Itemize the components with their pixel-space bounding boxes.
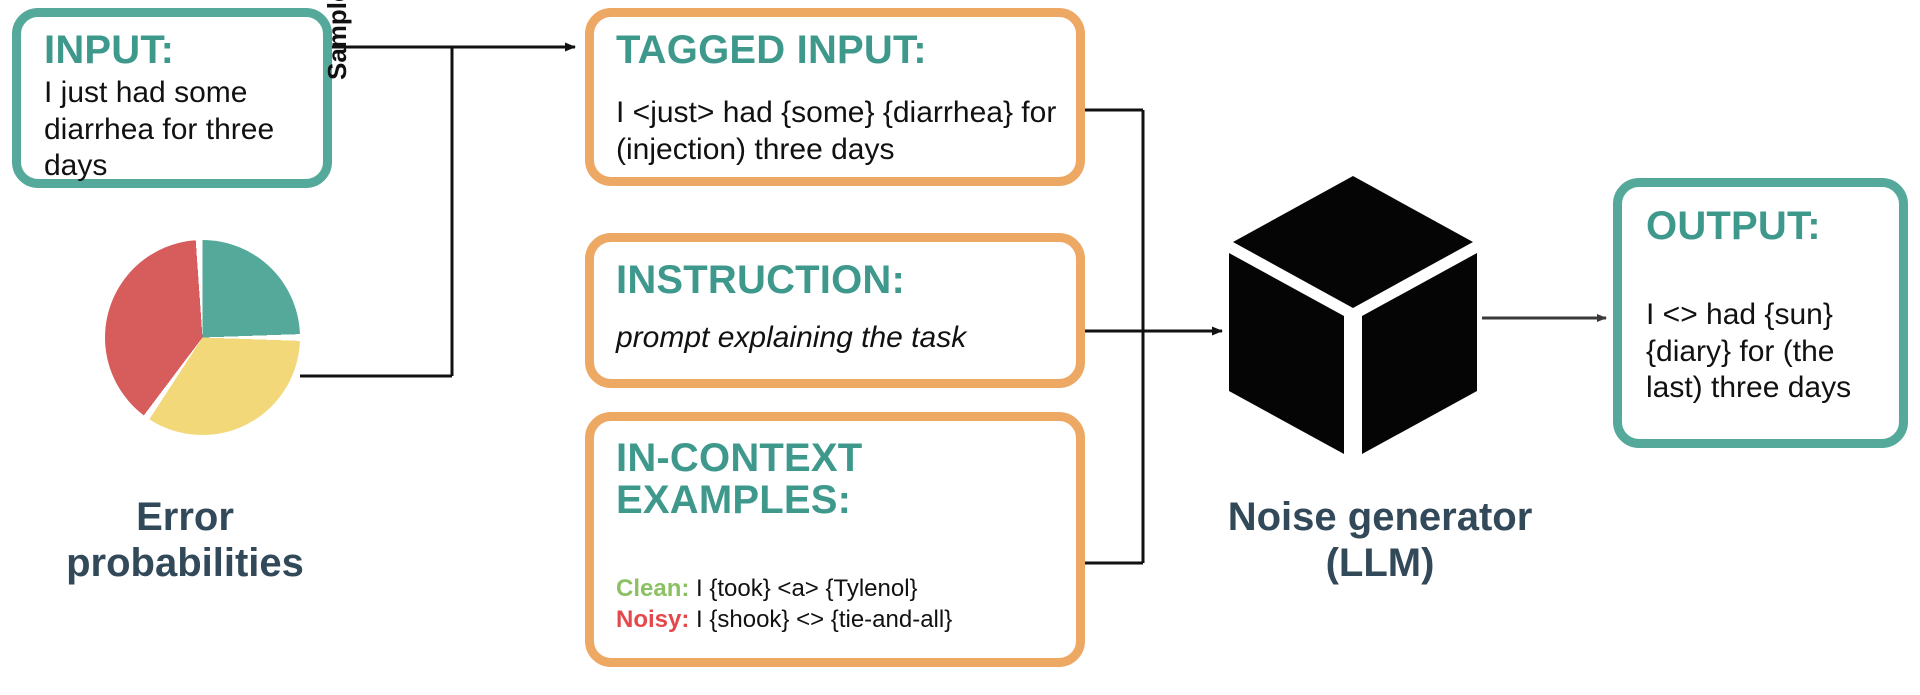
in-context-examples-title: IN-CONTEXT EXAMPLES: xyxy=(616,437,1036,522)
instruction-title: INSTRUCTION: xyxy=(616,259,905,301)
output-box: OUTPUT: I <> had {sun} {diary} for (the … xyxy=(1613,178,1908,448)
instruction-text: prompt explaining the task xyxy=(616,320,1081,357)
input-box-title: INPUT: xyxy=(44,29,174,71)
error-probabilities-caption: Error probabilities xyxy=(20,495,350,586)
error-probabilities-pie-chart xyxy=(105,240,300,435)
noise-generator-caption: Noise generator (LLM) xyxy=(1155,495,1605,586)
noisy-example-line: Noisy: I {shook} <> {tie-and-all} xyxy=(616,604,1076,635)
input-box-text: I just had some diarrhea for three days xyxy=(44,75,319,185)
noisy-example-text: I {shook} <> {tie-and-all} xyxy=(696,606,952,633)
output-box-title: OUTPUT: xyxy=(1646,205,1821,247)
noisy-example-label: Noisy: xyxy=(616,606,689,633)
diagram-canvas: INPUT: I just had some diarrhea for thre… xyxy=(0,0,1920,695)
sample-error-tags-label: Sample error tags xyxy=(322,0,356,80)
tagged-input-title: TAGGED INPUT: xyxy=(616,29,927,71)
instruction-box: INSTRUCTION: prompt explaining the task xyxy=(585,233,1085,388)
in-context-examples-lines: Clean: I {took} <a> {Tylenol} Noisy: I {… xyxy=(616,573,1076,635)
clean-example-text: I {took} <a> {Tylenol} xyxy=(696,575,918,602)
in-context-examples-box: IN-CONTEXT EXAMPLES: Clean: I {took} <a>… xyxy=(585,412,1085,667)
clean-example-label: Clean: xyxy=(616,575,689,602)
noise-generator-caption-line2: (LLM) xyxy=(1155,541,1605,587)
tagged-input-box: TAGGED INPUT: I <just> had {some} {diarr… xyxy=(585,8,1085,186)
cube-icon xyxy=(1228,173,1478,458)
clean-example-line: Clean: I {took} <a> {Tylenol} xyxy=(616,573,1076,604)
noise-generator-caption-line1: Noise generator xyxy=(1155,495,1605,541)
tagged-input-text: I <just> had {some} {diarrhea} for (inje… xyxy=(616,95,1076,168)
input-box: INPUT: I just had some diarrhea for thre… xyxy=(12,8,332,188)
output-box-text: I <> had {sun} {diary} for (the last) th… xyxy=(1646,297,1896,407)
